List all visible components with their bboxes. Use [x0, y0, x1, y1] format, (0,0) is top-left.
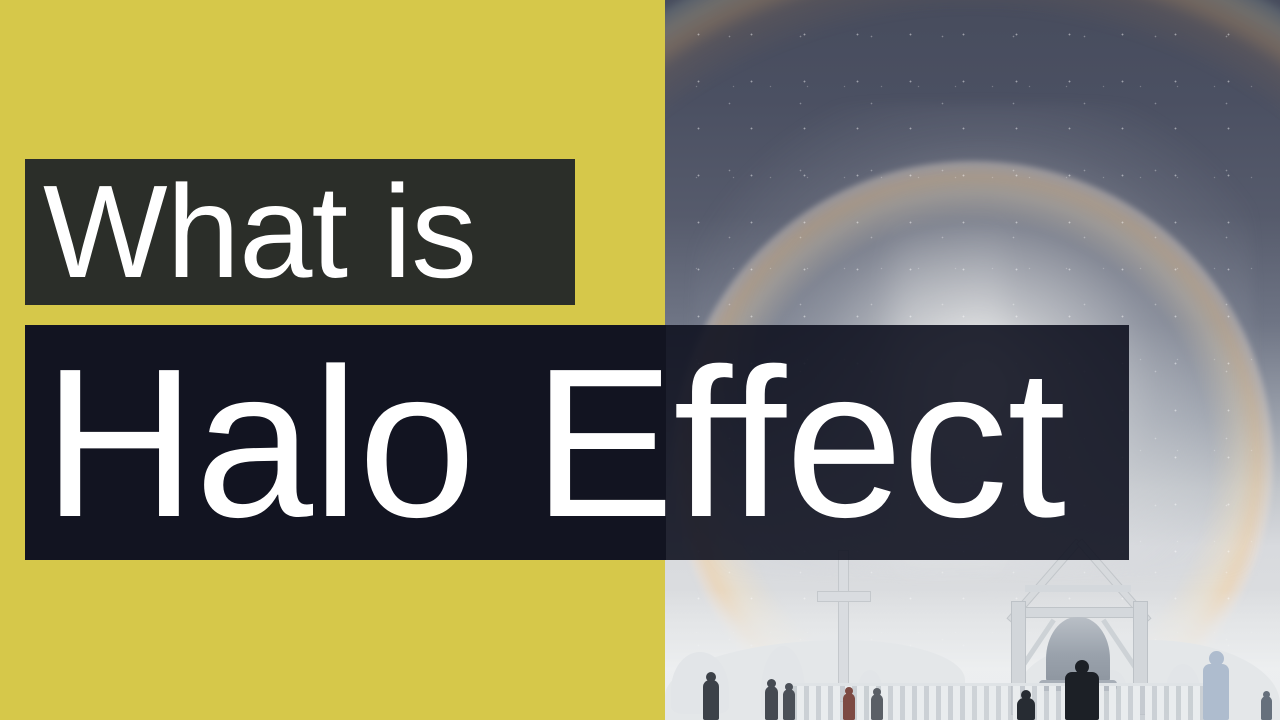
person-head	[706, 672, 716, 682]
person-crouching-dark	[1065, 658, 1099, 720]
cross-arm	[817, 591, 871, 602]
person-body	[703, 680, 719, 720]
cross-icon	[838, 550, 849, 702]
person-body	[1017, 698, 1035, 720]
person-head	[785, 683, 793, 691]
title-line-2-box: Halo Effect	[25, 325, 1129, 560]
person-body	[871, 694, 883, 720]
person-body	[1065, 672, 1099, 720]
video-thumbnail: What is Halo Effect	[0, 0, 1280, 720]
person-head	[845, 687, 853, 695]
person-head	[1021, 690, 1031, 700]
person-child-bending	[1017, 688, 1035, 720]
person-body	[783, 689, 795, 720]
person-walking-left	[703, 670, 719, 720]
person-far-right-small	[1261, 689, 1272, 720]
title-line-1-text: What is	[43, 166, 476, 298]
person-standing-pair-a	[765, 677, 778, 720]
person-head	[767, 679, 776, 688]
person-standing-pair-b	[783, 681, 795, 720]
person-head	[1209, 651, 1224, 666]
person-body	[843, 693, 855, 720]
person-body	[1203, 664, 1229, 720]
tower-collar-beam	[1025, 585, 1131, 592]
person-photographer	[871, 686, 883, 720]
person-red-jacket	[843, 685, 855, 720]
person-head	[1263, 691, 1270, 698]
person-body	[1261, 696, 1272, 720]
person-head	[1075, 660, 1089, 674]
person-body	[765, 686, 778, 720]
person-blue-parka	[1203, 649, 1229, 720]
title-line-1-box: What is	[25, 159, 575, 305]
person-head	[873, 688, 881, 696]
title-line-2-text: Halo Effect	[43, 337, 1065, 549]
